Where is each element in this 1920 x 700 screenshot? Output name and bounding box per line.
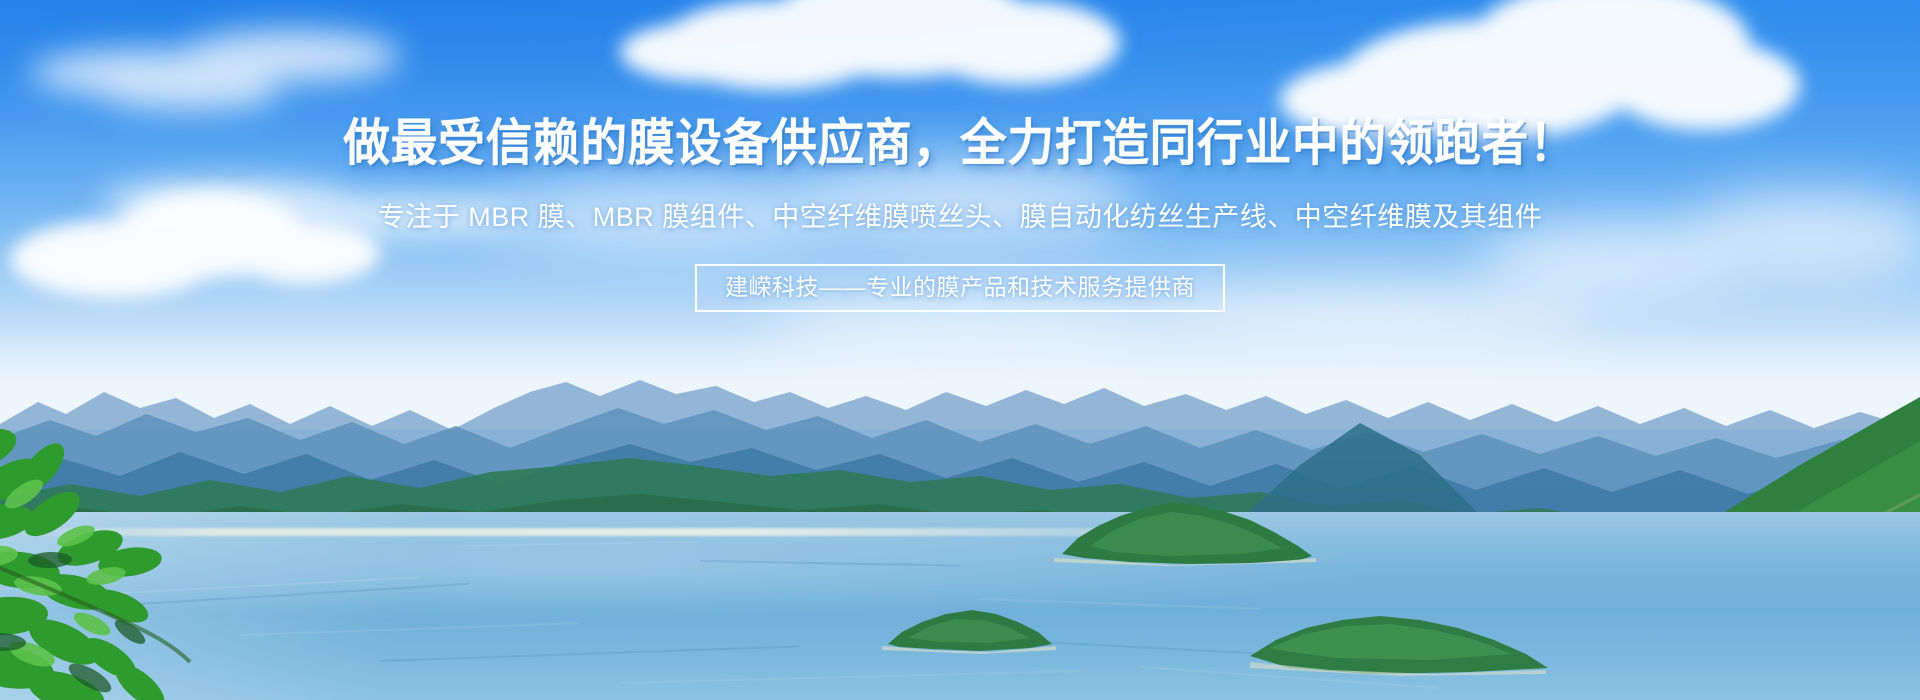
foreground-foliage-branch <box>0 410 310 700</box>
cloud-cluster-top-center <box>620 0 1140 110</box>
hero-banner: 做最受信赖的膜设备供应商，全力打造同行业中的领跑者！ 专注于 MBR 膜、MBR… <box>0 0 1920 700</box>
cloud-cluster-left-low <box>0 160 420 310</box>
island-large <box>1050 488 1320 566</box>
cloud-cluster-top-right <box>1280 0 1800 180</box>
island-right-spur <box>1250 586 1550 676</box>
island-small <box>880 598 1060 654</box>
cloud-wisp-top-left <box>30 10 450 130</box>
